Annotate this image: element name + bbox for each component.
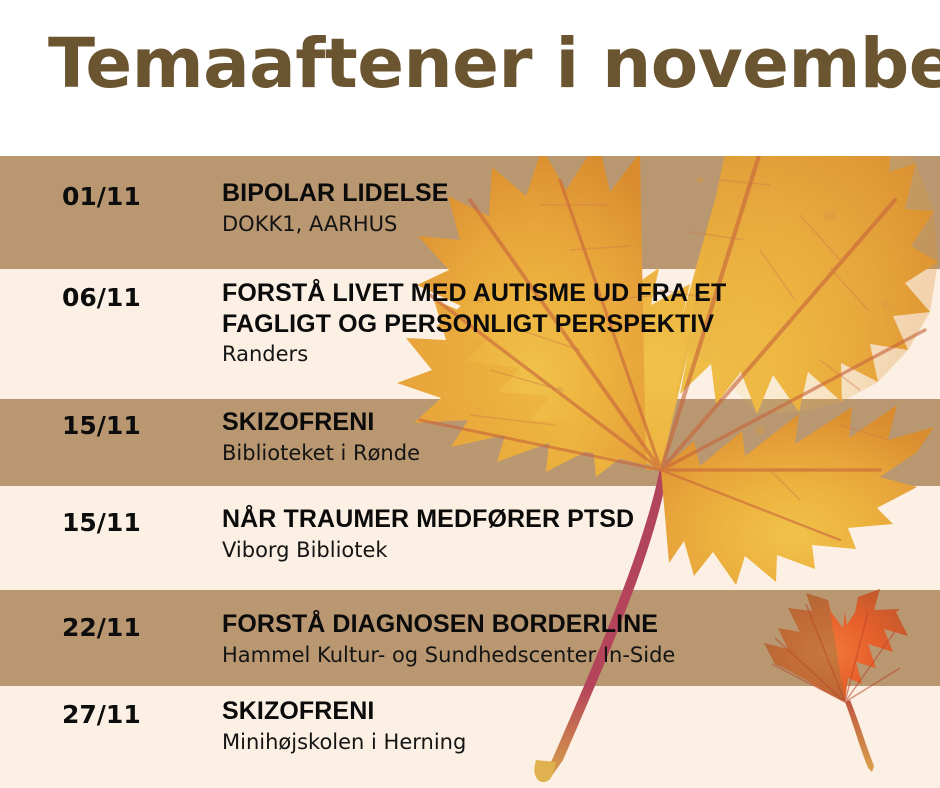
event-body: FORSTÅ LIVET MED AUTISME UD FRA ET FAGLI… xyxy=(222,278,922,367)
event-title: SKIZOFRENI xyxy=(222,696,922,727)
event-title: FORSTÅ DIAGNOSEN BORDERLINE xyxy=(222,609,922,640)
event-venue: Biblioteket i Rønde xyxy=(222,440,922,466)
event-date: 27/11 xyxy=(62,700,141,729)
event-venue: Hammel Kultur- og Sundhedscenter In-Side xyxy=(222,642,922,668)
event-body: SKIZOFRENI Biblioteket i Rønde xyxy=(222,407,922,466)
event-venue: Randers xyxy=(222,341,922,367)
event-row-1: 01/11 BIPOLAR LIDELSE DOKK1, AARHUS xyxy=(0,156,940,269)
event-date: 06/11 xyxy=(62,283,141,312)
event-row-2: 06/11 FORSTÅ LIVET MED AUTISME UD FRA ET… xyxy=(0,269,940,399)
title-band: Temaaftener i november xyxy=(0,0,940,156)
event-venue: Viborg Bibliotek xyxy=(222,537,922,563)
event-date: 15/11 xyxy=(62,411,141,440)
event-venue: DOKK1, AARHUS xyxy=(222,211,922,237)
event-row-5: 22/11 FORSTÅ DIAGNOSEN BORDERLINE Hammel… xyxy=(0,590,940,686)
event-date: 22/11 xyxy=(62,613,141,642)
event-title: NÅR TRAUMER MEDFØRER PTSD xyxy=(222,504,922,535)
event-title: SKIZOFRENI xyxy=(222,407,922,438)
event-title: BIPOLAR LIDELSE xyxy=(222,178,922,209)
event-venue: Minihøjskolen i Herning xyxy=(222,729,922,755)
event-body: FORSTÅ DIAGNOSEN BORDERLINE Hammel Kultu… xyxy=(222,609,922,668)
event-body: NÅR TRAUMER MEDFØRER PTSD Viborg Bibliot… xyxy=(222,504,922,563)
event-date: 15/11 xyxy=(62,508,141,537)
page-title: Temaaftener i november xyxy=(48,28,940,100)
event-row-6: 27/11 SKIZOFRENI Minihøjskolen i Herning xyxy=(0,686,940,788)
event-date: 01/11 xyxy=(62,182,141,211)
event-body: SKIZOFRENI Minihøjskolen i Herning xyxy=(222,696,922,755)
event-title: FORSTÅ LIVET MED AUTISME UD FRA ET FAGLI… xyxy=(222,278,922,339)
event-row-3: 15/11 SKIZOFRENI Biblioteket i Rønde xyxy=(0,399,940,486)
poster-canvas: Temaaftener i november 01/11 BIPOLAR LID… xyxy=(0,0,940,788)
event-body: BIPOLAR LIDELSE DOKK1, AARHUS xyxy=(222,178,922,237)
event-row-4: 15/11 NÅR TRAUMER MEDFØRER PTSD Viborg B… xyxy=(0,486,940,590)
